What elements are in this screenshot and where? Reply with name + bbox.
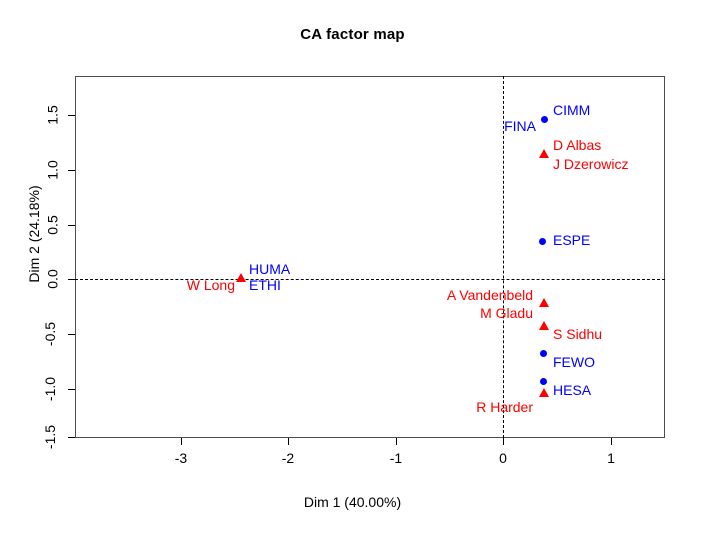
y-tick-mark-5: [68, 334, 75, 335]
x-tick-label-1: -3: [161, 450, 201, 466]
y-tick-mark-7: [68, 437, 75, 438]
x-tick-label-3: -1: [376, 450, 416, 466]
point-label-hesa: HESA: [553, 383, 591, 398]
point-label-fewo: FEWO: [553, 355, 595, 370]
y-tick-mark-3: [68, 225, 75, 226]
x-tick-mark-1: [181, 438, 182, 445]
x-tick-label-2: -2: [268, 450, 308, 466]
x-tick-mark-4: [503, 438, 504, 445]
y-tick-mark-6: [68, 389, 75, 390]
point-marker-a-vandenbeld: [539, 298, 549, 307]
point-label-m-gladu: M Gladu: [385, 306, 533, 321]
x-tick-label-4: 0: [483, 450, 523, 466]
point-label-a-vandenbeld: A Vandenbeld: [385, 288, 533, 303]
ca-factor-map-plot: CA factor map -3 -2 -1 0 1 1.5 1.0 0.5 0…: [0, 0, 705, 536]
point-marker-r-harder: [539, 388, 549, 397]
point-label-cimm: CIMM: [553, 103, 590, 118]
y-tick-mark-4: [68, 279, 75, 280]
x-tick-mark-5: [611, 438, 612, 445]
point-label-fina: FINA: [436, 119, 536, 134]
point-marker-hesa: [540, 378, 547, 385]
point-label-w-long: W Long: [135, 278, 235, 293]
y-tick-mark-1: [68, 115, 75, 116]
x-tick-label-5: 1: [591, 450, 631, 466]
point-marker-cimm: [541, 116, 548, 123]
point-marker-s-sidhu: [539, 321, 549, 330]
point-label-s-sidhu: S Sidhu: [553, 327, 602, 342]
point-marker-espe: [539, 238, 546, 245]
y-tick-mark-2: [68, 170, 75, 171]
x-axis-label: Dim 1 (40.00%): [0, 494, 705, 510]
page-title: CA factor map: [0, 26, 705, 43]
y-tick-label-6: -1.0: [0, 381, 62, 397]
x-tick-mark-2: [288, 438, 289, 445]
y-tick-label-7: -1.5: [0, 429, 62, 445]
point-label-espe: ESPE: [553, 233, 590, 248]
point-marker-d-albas: [539, 149, 549, 158]
point-label-huma: HUMA: [249, 262, 290, 277]
x-tick-mark-3: [396, 438, 397, 445]
point-marker-huma-ethi: [236, 273, 246, 282]
point-marker-fewo: [540, 350, 547, 357]
point-label-r-harder: R Harder: [373, 400, 533, 415]
y-axis-label: Dim 2 (24.18%): [26, 114, 42, 354]
point-label-ethi: ETHI: [249, 278, 281, 293]
point-label-j-dzerowicz: J Dzerowicz: [553, 157, 628, 172]
point-label-d-albas: D Albas: [553, 138, 601, 153]
